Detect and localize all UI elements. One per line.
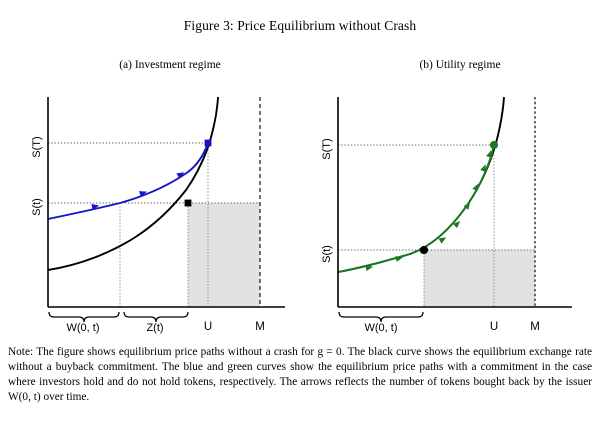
panel-b-shaded-region bbox=[424, 250, 535, 307]
panel-b-xlabel-M: M bbox=[530, 321, 540, 333]
panel-a-brace-Z bbox=[124, 312, 188, 322]
note-label: Note: bbox=[8, 346, 33, 358]
panel-b-xlabel-U: U bbox=[490, 321, 498, 333]
panel-a-ylabel-St: S(t) bbox=[31, 198, 43, 216]
panel-b-plot: S(T) S(t) U M W(0, t) bbox=[321, 97, 572, 334]
panel-a-blue-arrows bbox=[91, 170, 186, 210]
panel-b-brace-W bbox=[339, 312, 423, 322]
panel-a-brace-Z-label: Z(t) bbox=[146, 322, 163, 334]
panel-a-brace-W-label: W(0, t) bbox=[67, 322, 100, 334]
panel-a-blue-curve bbox=[48, 143, 208, 219]
plots-svg: S(T) S(t) U M W(0, t) Z(t) bbox=[0, 0, 600, 345]
panel-b-ylabel-ST: S(T) bbox=[321, 138, 333, 159]
panel-a-brace-W bbox=[49, 312, 119, 322]
panel-a-shaded-region bbox=[188, 203, 260, 307]
figure-container: Figure 3: Price Equilibrium without Cras… bbox=[0, 0, 600, 428]
panel-a-ylabel-ST: S(T) bbox=[31, 136, 43, 157]
panel-a-xlabel-M: M bbox=[255, 321, 265, 333]
panel-a-equilibrium-dot-black bbox=[185, 200, 192, 207]
panel-a-plot: S(T) S(t) U M W(0, t) Z(t) bbox=[31, 97, 285, 334]
panel-b-ylabel-St: S(t) bbox=[321, 245, 333, 263]
figure-note: Note: The figure shows equilibrium price… bbox=[8, 345, 592, 405]
panel-b-brace-W-label: W(0, t) bbox=[365, 322, 398, 334]
panel-a-xlabel-U: U bbox=[204, 321, 212, 333]
panel-b-equilibrium-dot-black bbox=[420, 246, 428, 254]
panel-b-equilibrium-dot-green bbox=[490, 141, 498, 149]
panel-a-equilibrium-dot-blue bbox=[205, 140, 212, 147]
note-text: The figure shows equilibrium price paths… bbox=[8, 346, 592, 403]
